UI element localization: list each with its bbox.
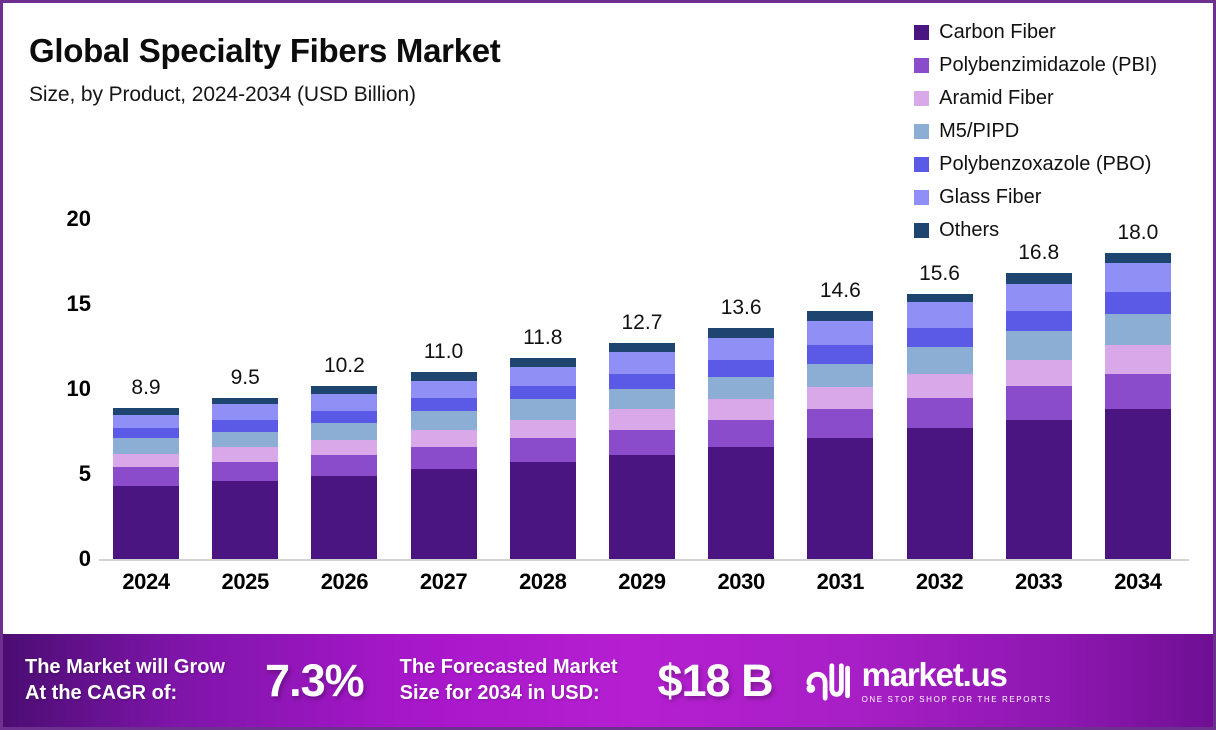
bar-value-label: 9.5	[231, 366, 260, 390]
bar-segment[interactable]	[708, 399, 774, 419]
bar-value-label: 8.9	[131, 376, 160, 400]
bar-group[interactable]: 18.0	[1101, 219, 1175, 559]
legend-label: Carbon Fiber	[939, 21, 1056, 44]
bar-segment[interactable]	[609, 343, 675, 352]
bar-segment[interactable]	[708, 447, 774, 559]
market-us-mark-icon	[803, 660, 853, 702]
bar-segment[interactable]	[609, 374, 675, 389]
legend-swatch-icon	[914, 157, 929, 172]
bar-segment[interactable]	[113, 438, 179, 453]
bar-group[interactable]: 11.8	[506, 219, 580, 559]
bar-stack	[510, 358, 576, 559]
legend-swatch-icon	[914, 25, 929, 40]
legend-item[interactable]: Aramid Fiber	[914, 87, 1157, 110]
legend-label: M5/PIPD	[939, 120, 1019, 143]
x-axis-line	[99, 559, 1189, 561]
bar-segment[interactable]	[113, 467, 179, 486]
bar-segment[interactable]	[311, 386, 377, 395]
bar-segment[interactable]	[1105, 263, 1171, 292]
x-axis-tick-label: 2032	[903, 569, 977, 609]
bar-stack	[311, 386, 377, 559]
bar-group[interactable]: 13.6	[704, 219, 778, 559]
bar-segment[interactable]	[807, 321, 873, 345]
x-axis-tick-label: 2024	[109, 569, 183, 609]
bar-segment[interactable]	[708, 377, 774, 399]
bar-group[interactable]: 8.9	[109, 219, 183, 559]
x-axis-tick-label: 2029	[605, 569, 679, 609]
legend-swatch-icon	[914, 91, 929, 106]
cagr-label: The Market will Grow At the CAGR of:	[25, 655, 225, 706]
bar-segment[interactable]	[708, 420, 774, 447]
bar-segment[interactable]	[1105, 374, 1171, 410]
bar-segment[interactable]	[807, 364, 873, 388]
bar-stack	[411, 372, 477, 559]
y-axis-tick-label: 15	[67, 291, 91, 317]
bar-group[interactable]: 12.7	[605, 219, 679, 559]
legend-swatch-icon	[914, 124, 929, 139]
bar-segment[interactable]	[1006, 331, 1072, 360]
bar-segment[interactable]	[311, 440, 377, 455]
bar-segment[interactable]	[510, 420, 576, 439]
bar-segment[interactable]	[411, 411, 477, 430]
legend-swatch-icon	[914, 58, 929, 73]
bar-value-label: 15.6	[919, 262, 960, 286]
logo-text: market.us ONE STOP SHOP FOR THE REPORTS	[862, 658, 1052, 704]
bar-segment[interactable]	[113, 408, 179, 415]
bar-segment[interactable]	[510, 367, 576, 386]
forecast-label-line1: The Forecasted Market	[400, 655, 618, 681]
legend-label: Polybenzoxazole (PBO)	[939, 153, 1151, 176]
legend-label: Aramid Fiber	[939, 87, 1053, 110]
bar-segment[interactable]	[1006, 360, 1072, 386]
bar-segment[interactable]	[510, 462, 576, 559]
bar-segment[interactable]	[807, 311, 873, 321]
bar-stack	[1105, 253, 1171, 559]
x-axis-labels: 2024202520262027202820292030203120322033…	[99, 569, 1185, 609]
market-us-logo: market.us ONE STOP SHOP FOR THE REPORTS	[803, 658, 1052, 704]
y-axis-labels: 05101520	[39, 219, 91, 559]
x-axis-tick-label: 2025	[208, 569, 282, 609]
x-axis-tick-label: 2034	[1101, 569, 1175, 609]
bar-segment[interactable]	[907, 347, 973, 374]
bar-stack	[1006, 273, 1072, 559]
chart-subtitle: Size, by Product, 2024-2034 (USD Billion…	[29, 83, 501, 107]
bar-stack	[907, 294, 973, 559]
bar-value-label: 11.0	[424, 340, 463, 364]
bar-stack	[708, 328, 774, 559]
logo-wordmark: market.us	[862, 658, 1052, 691]
bar-segment[interactable]	[907, 428, 973, 559]
bar-segment[interactable]	[708, 328, 774, 338]
bar-series-container: 8.99.510.211.011.812.713.614.615.616.818…	[99, 219, 1185, 559]
bar-segment[interactable]	[1105, 314, 1171, 345]
bar-segment[interactable]	[311, 411, 377, 423]
bar-segment[interactable]	[807, 345, 873, 364]
bar-segment[interactable]	[609, 455, 675, 559]
bar-segment[interactable]	[1006, 420, 1072, 559]
bar-segment[interactable]	[907, 294, 973, 303]
infographic-frame: Global Specialty Fibers Market Size, by …	[0, 0, 1216, 730]
bar-segment[interactable]	[212, 398, 278, 405]
bar-segment[interactable]	[510, 399, 576, 419]
bar-segment[interactable]	[411, 398, 477, 412]
bar-value-label: 14.6	[820, 279, 861, 303]
bar-segment[interactable]	[311, 455, 377, 475]
cagr-value: 7.3%	[265, 655, 364, 707]
bar-segment[interactable]	[1006, 284, 1072, 311]
bar-segment[interactable]	[807, 438, 873, 559]
legend-swatch-icon	[914, 190, 929, 205]
forecast-label: The Forecasted Market Size for 2034 in U…	[400, 655, 618, 706]
bar-stack	[113, 408, 179, 559]
bar-segment[interactable]	[1105, 292, 1171, 314]
bar-segment[interactable]	[510, 386, 576, 400]
bar-segment[interactable]	[609, 352, 675, 374]
forecast-value: $18 B	[657, 655, 772, 707]
bar-segment[interactable]	[907, 398, 973, 429]
bar-value-label: 12.7	[622, 311, 663, 335]
bar-group[interactable]: 16.8	[1002, 219, 1076, 559]
bar-value-label: 16.8	[1018, 241, 1059, 265]
x-axis-tick-label: 2028	[506, 569, 580, 609]
bar-segment[interactable]	[1006, 386, 1072, 420]
bar-segment[interactable]	[411, 381, 477, 398]
bar-value-label: 11.8	[523, 326, 562, 350]
bar-group[interactable]: 15.6	[903, 219, 977, 559]
bar-value-label: 10.2	[324, 354, 365, 378]
bar-value-label: 13.6	[721, 296, 762, 320]
bar-value-label: 18.0	[1117, 221, 1158, 245]
bar-stack	[807, 311, 873, 559]
y-axis-tick-label: 20	[67, 206, 91, 232]
legend-label: Polybenzimidazole (PBI)	[939, 54, 1157, 77]
bar-segment[interactable]	[411, 469, 477, 559]
x-axis-tick-label: 2026	[307, 569, 381, 609]
x-axis-tick-label: 2033	[1002, 569, 1076, 609]
legend-label: Glass Fiber	[939, 186, 1041, 209]
bar-segment[interactable]	[212, 462, 278, 481]
bar-segment[interactable]	[212, 420, 278, 432]
bar-group[interactable]: 11.0	[407, 219, 481, 559]
legend-item[interactable]: Polybenzimidazole (PBI)	[914, 54, 1157, 77]
x-axis-tick-label: 2031	[803, 569, 877, 609]
bar-segment[interactable]	[311, 394, 377, 411]
bar-segment[interactable]	[1006, 311, 1072, 331]
bar-segment[interactable]	[807, 409, 873, 438]
bar-segment[interactable]	[311, 423, 377, 440]
page-title: Global Specialty Fibers Market	[29, 33, 501, 69]
bar-group[interactable]: 10.2	[307, 219, 381, 559]
bar-segment[interactable]	[311, 476, 377, 559]
legend-item[interactable]: Carbon Fiber	[914, 21, 1157, 44]
bar-segment[interactable]	[609, 430, 675, 456]
plot-area: 8.99.510.211.011.812.713.614.615.616.818…	[99, 219, 1185, 559]
bar-segment[interactable]	[212, 481, 278, 559]
bar-segment[interactable]	[113, 454, 179, 468]
bar-segment[interactable]	[113, 486, 179, 559]
bar-segment[interactable]	[1105, 409, 1171, 559]
bar-segment[interactable]	[411, 430, 477, 447]
logo-tagline: ONE STOP SHOP FOR THE REPORTS	[862, 695, 1052, 704]
bar-segment[interactable]	[212, 404, 278, 419]
bar-segment[interactable]	[907, 302, 973, 328]
y-axis-tick-label: 10	[67, 376, 91, 402]
bar-segment[interactable]	[113, 428, 179, 438]
bar-stack	[212, 398, 278, 559]
bar-group[interactable]: 9.5	[208, 219, 282, 559]
bar-segment[interactable]	[411, 372, 477, 381]
bar-segment[interactable]	[113, 415, 179, 429]
bar-segment[interactable]	[1105, 253, 1171, 263]
bar-segment[interactable]	[708, 338, 774, 360]
cagr-label-line1: The Market will Grow	[25, 655, 225, 681]
y-axis-tick-label: 0	[79, 546, 91, 572]
bar-stack	[609, 343, 675, 559]
bar-segment[interactable]	[212, 432, 278, 447]
legend-item[interactable]: Polybenzoxazole (PBO)	[914, 153, 1157, 176]
bar-segment[interactable]	[907, 374, 973, 398]
legend-item[interactable]: M5/PIPD	[914, 120, 1157, 143]
footer-banner: The Market will Grow At the CAGR of: 7.3…	[3, 634, 1213, 727]
bar-group[interactable]: 14.6	[803, 219, 877, 559]
bar-segment[interactable]	[708, 360, 774, 377]
bar-segment[interactable]	[1006, 273, 1072, 283]
bar-segment[interactable]	[807, 387, 873, 409]
bar-segment[interactable]	[212, 447, 278, 462]
x-axis-tick-label: 2027	[407, 569, 481, 609]
bar-segment[interactable]	[1105, 345, 1171, 374]
bar-segment[interactable]	[609, 409, 675, 429]
header: Global Specialty Fibers Market Size, by …	[29, 33, 501, 107]
bar-segment[interactable]	[411, 447, 477, 469]
bar-segment[interactable]	[907, 328, 973, 347]
bar-segment[interactable]	[510, 358, 576, 367]
bar-segment[interactable]	[609, 389, 675, 409]
x-axis-tick-label: 2030	[704, 569, 778, 609]
legend-item[interactable]: Glass Fiber	[914, 186, 1157, 209]
forecast-label-line2: Size for 2034 in USD:	[400, 681, 618, 707]
y-axis-tick-label: 5	[79, 461, 91, 487]
chart-legend: Carbon FiberPolybenzimidazole (PBI)Arami…	[914, 21, 1157, 242]
bar-segment[interactable]	[510, 438, 576, 462]
cagr-label-line2: At the CAGR of:	[25, 681, 225, 707]
